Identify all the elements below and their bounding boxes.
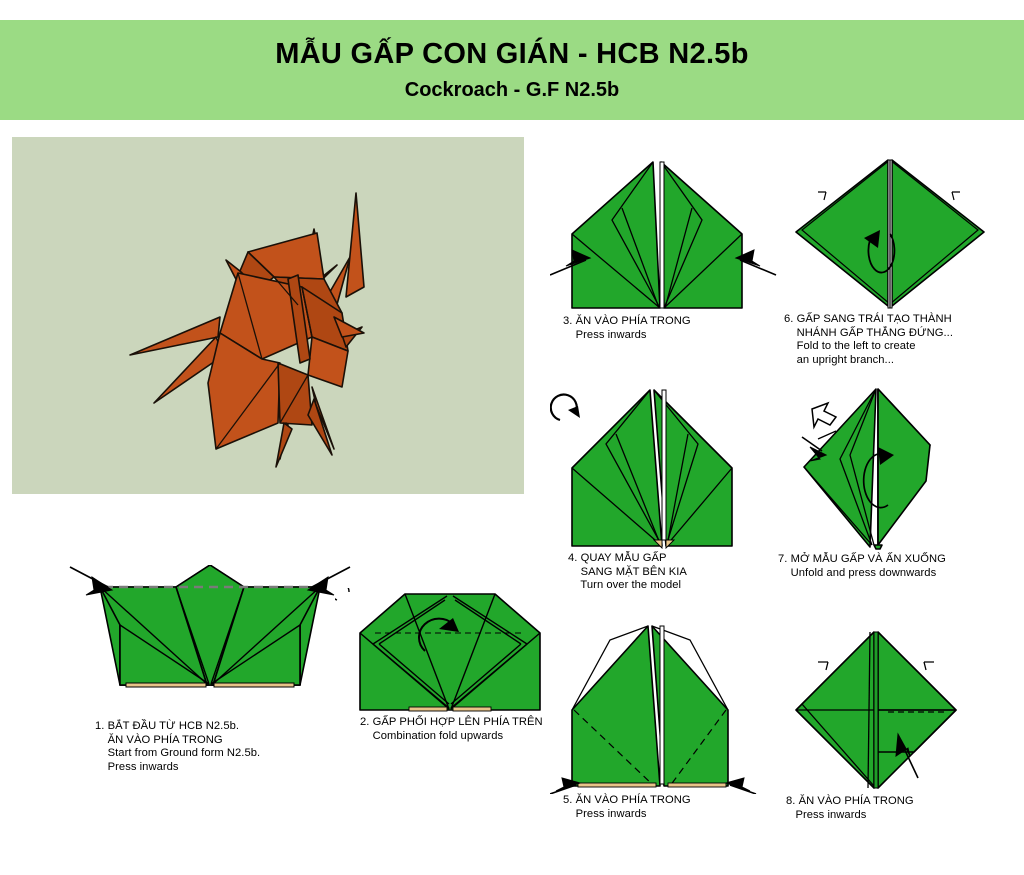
step-2: 2. GẤP PHỐI HỢP LÊN PHÍA TRÊN Combinatio… [335, 588, 565, 716]
step-5-caption: 5. ĂN VÀO PHÍA TRONG Press inwards [563, 794, 691, 821]
step-1: 1. BẮT ĐẦU TỪ HCB N2.5b. ĂN VÀO PHÍA TRO… [60, 565, 360, 720]
step-1-caption: 1. BẮT ĐẦU TỪ HCB N2.5b. ĂN VÀO PHÍA TRO… [95, 720, 260, 774]
step-7-caption-line-1: 7. MỞ MẪU GẤP VÀ ẤN XUỐNG [778, 553, 946, 567]
step-2-caption-line-1: 2. GẤP PHỐI HỢP LÊN PHÍA TRÊN [360, 716, 543, 730]
step-2-diagram [335, 588, 565, 716]
arrow-inward-right [726, 778, 756, 794]
step-4-diagram [550, 382, 780, 550]
step-3-caption: 3. ĂN VÀO PHÍA TRONG Press inwards [563, 315, 691, 342]
step-4-caption-line-2: SANG MẶT BÊN KIA [568, 566, 687, 580]
turn-over-icon [551, 395, 580, 420]
step-1-caption-line-3: Start from Ground form N2.5b. [95, 747, 260, 761]
step-6: 6. GẤP SANG TRÁI TẠO THÀNH NHÁNH GẤP THẲ… [778, 158, 1008, 310]
step-7-diagram [778, 385, 1008, 550]
step-7: 7. MỞ MẪU GẤP VÀ ẤN XUỐNG Unfold and pre… [778, 385, 1008, 550]
step-6-caption-line-4: an upright branch... [784, 354, 953, 368]
step-1-caption-line-4: Press inwards [95, 761, 260, 775]
step-3-diagram [550, 160, 780, 312]
step-7-caption: 7. MỞ MẪU GẤP VÀ ẤN XUỐNG Unfold and pre… [778, 553, 946, 580]
step-6-caption-line-2: NHÁNH GẤP THẲNG ĐỨNG... [784, 327, 953, 341]
step-6-caption-line-1: 6. GẤP SANG TRÁI TẠO THÀNH [784, 313, 953, 327]
sheet-header: MẪU GẤP CON GIÁN - HCB N2.5b Cockroach -… [0, 20, 1024, 120]
step-2-caption: 2. GẤP PHỐI HỢP LÊN PHÍA TRÊN Combinatio… [360, 716, 543, 743]
origami-instruction-sheet: MẪU GẤP CON GIÁN - HCB N2.5b Cockroach -… [0, 0, 1024, 875]
step-3: 3. ĂN VÀO PHÍA TRONG Press inwards [550, 160, 780, 312]
step-1-caption-line-1: 1. BẮT ĐẦU TỪ HCB N2.5b. [95, 720, 260, 734]
rotate-mark-icon [335, 588, 349, 600]
step-5-caption-line-1: 5. ĂN VÀO PHÍA TRONG [563, 794, 691, 808]
step-3-caption-line-2: Press inwards [563, 329, 691, 343]
step-1-caption-line-2: ĂN VÀO PHÍA TRONG [95, 734, 260, 748]
step-4-caption-line-1: 4. QUAY MẪU GẤP [568, 552, 687, 566]
step-4-caption: 4. QUAY MẪU GẤP SANG MẶT BÊN KIA Turn ov… [568, 552, 687, 593]
page-title-english: Cockroach - G.F N2.5b [405, 79, 620, 101]
step-6-diagram [778, 158, 1008, 310]
step-5-diagram [550, 622, 780, 794]
step-3-caption-line-1: 3. ĂN VÀO PHÍA TRONG [563, 315, 691, 329]
step-8-diagram [778, 628, 1008, 793]
step-6-caption: 6. GẤP SANG TRÁI TẠO THÀNH NHÁNH GẤP THẲ… [784, 313, 953, 367]
step-4: 4. QUAY MẪU GẤP SANG MẶT BÊN KIA Turn ov… [550, 382, 780, 550]
unfold-hollow-arrow [812, 403, 836, 427]
step-5: 5. ĂN VÀO PHÍA TRONG Press inwards [550, 622, 780, 794]
step-2-caption-line-2: Combination fold upwards [360, 730, 543, 744]
cockroach-origami-illustration [12, 137, 524, 494]
step-5-caption-line-2: Press inwards [563, 808, 691, 822]
step-4-caption-line-3: Turn over the model [568, 579, 687, 593]
step-8-caption: 8. ĂN VÀO PHÍA TRONG Press inwards [786, 795, 914, 822]
step-1-diagram [60, 565, 360, 720]
step-6-caption-line-3: Fold to the left to create [784, 340, 953, 354]
page-title-vietnamese: MẪU GẤP CON GIÁN - HCB N2.5b [275, 39, 749, 71]
finished-model-photo [12, 137, 524, 494]
step-8: 8. ĂN VÀO PHÍA TRONG Press inwards [778, 628, 1008, 793]
arrow-inward-left [70, 567, 112, 595]
step-8-caption-line-1: 8. ĂN VÀO PHÍA TRONG [786, 795, 914, 809]
step-8-caption-line-2: Press inwards [786, 809, 914, 823]
step-7-caption-line-2: Unfold and press downwards [778, 567, 946, 581]
